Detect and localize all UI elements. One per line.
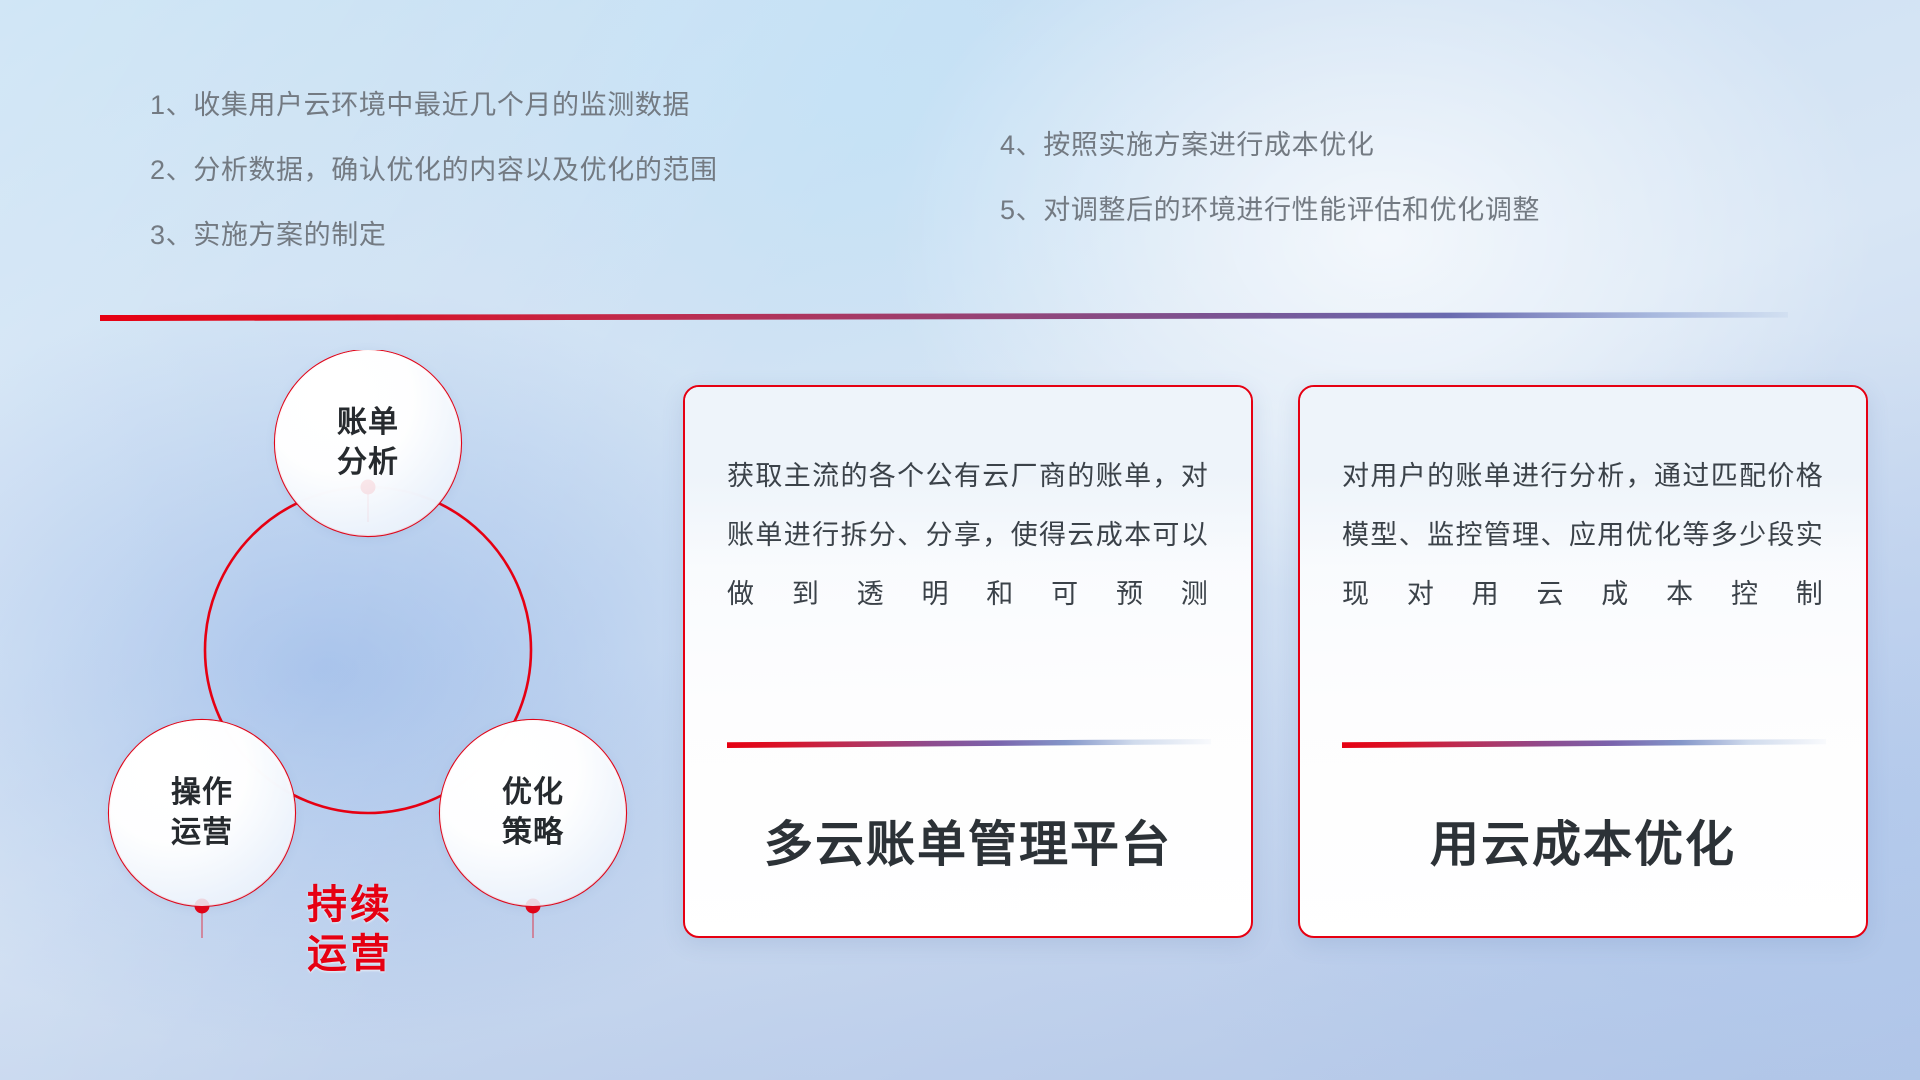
card-2-body: 对用户的账单进行分析，通过匹配价格模型、监控管理、应用优化等多少段实现对用云成本…: [1342, 447, 1824, 624]
venn-bubble-optimization-strategy[interactable]: 优化 策略: [440, 720, 626, 906]
card-2-divider: [1342, 739, 1826, 748]
venn-bubble-br-line1: 优化: [502, 773, 564, 813]
step-item-5: 5、对调整后的环境进行性能评估和优化调整: [1000, 197, 1540, 224]
venn-bubble-bl-line1: 操作: [171, 773, 233, 813]
venn-bubble-top-line1: 账单: [337, 403, 399, 443]
steps-list: 1、收集用户云环境中最近几个月的监测数据 2、分析数据，确认优化的内容以及优化的…: [0, 92, 1920, 277]
card-1-divider: [727, 739, 1211, 748]
venn-center-label: 持续 运营: [307, 881, 393, 979]
venn-bubble-operations[interactable]: 操作 运营: [109, 720, 295, 906]
venn-center-label-line1: 持续: [307, 881, 393, 930]
venn-bubble-bl-line2: 运营: [171, 813, 233, 853]
card-2-title: 用云成本优化: [1300, 805, 1866, 876]
steps-right-column: 4、按照实施方案进行成本优化 5、对调整后的环境进行性能评估和优化调整: [1000, 132, 1540, 262]
step-item-4: 4、按照实施方案进行成本优化: [1000, 132, 1540, 159]
venn-bubble-br-line2: 策略: [502, 813, 564, 853]
card-multi-cloud-billing[interactable]: 获取主流的各个公有云厂商的账单，对账单进行拆分、分享，使得云成本可以做到透明和可…: [683, 385, 1253, 938]
step-item-3: 3、实施方案的制定: [150, 222, 718, 249]
step-item-1: 1、收集用户云环境中最近几个月的监测数据: [150, 92, 718, 119]
section-divider-bar: [100, 312, 1788, 321]
card-2-divider-bar: [1342, 739, 1826, 748]
step-item-2: 2、分析数据，确认优化的内容以及优化的范围: [150, 157, 718, 184]
venn-diagram: 账单 分析 操作 运营 优化 策略 持续 运营: [95, 350, 640, 940]
card-cloud-cost-optimization[interactable]: 对用户的账单进行分析，通过匹配价格模型、监控管理、应用优化等多少段实现对用云成本…: [1298, 385, 1868, 938]
section-divider: [100, 312, 1788, 321]
steps-left-column: 1、收集用户云环境中最近几个月的监测数据 2、分析数据，确认优化的内容以及优化的…: [150, 92, 718, 287]
card-1-body: 获取主流的各个公有云厂商的账单，对账单进行拆分、分享，使得云成本可以做到透明和可…: [727, 447, 1209, 624]
card-1-divider-bar: [727, 739, 1211, 748]
venn-bubble-top-line2: 分析: [337, 443, 399, 483]
card-1-title: 多云账单管理平台: [685, 805, 1251, 876]
venn-bubble-billing-analysis[interactable]: 账单 分析: [275, 350, 461, 536]
venn-center-label-line2: 运营: [307, 930, 393, 979]
